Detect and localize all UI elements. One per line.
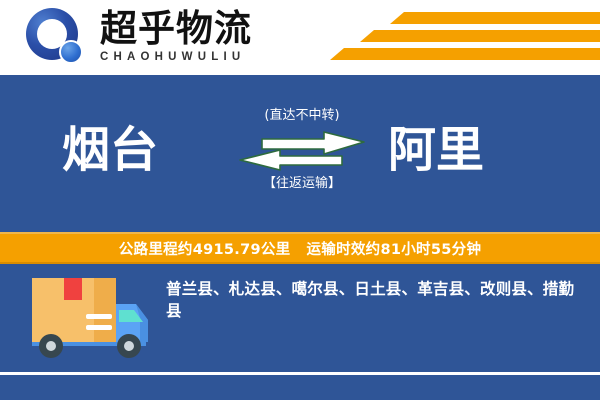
destination-city: 阿里 <box>388 119 484 181</box>
chaohu-q-logo-icon <box>26 8 90 68</box>
route-panel: 烟台 (直达不中转) 【往返运输】 阿里 <box>0 75 600 232</box>
coverage-areas-list: 普兰县、札达县、噶尔县、日土县、革吉县、改则县、措勤县 <box>166 278 584 322</box>
round-trip-note: 【往返运输】 <box>238 175 366 193</box>
coverage-section: 普兰县、札达县、噶尔县、日土县、革吉县、改则县、措勤县 <box>0 264 600 400</box>
stripe-3 <box>330 48 600 60</box>
direct-service-note: (直达不中转) <box>238 107 366 125</box>
route-info-bar: 公路里程约4915.79公里 运输时效约81小时55分钟 <box>0 232 600 264</box>
logo-dot <box>59 40 83 64</box>
ground-line <box>0 372 600 375</box>
stripe-2 <box>360 30 600 42</box>
brand-name-cn: 超乎物流 <box>100 8 252 50</box>
logistics-route-banner: 超乎物流 CHAOHUWULIU 烟台 (直达不中转) 【往返运输】 阿里 公路… <box>0 0 600 400</box>
brand: 超乎物流 CHAOHUWULIU <box>100 8 252 63</box>
brand-name-en: CHAOHUWULIU <box>100 51 252 63</box>
bidirectional-arrow-icon <box>238 131 366 171</box>
duration-text: 运输时效约81小时55分钟 <box>306 238 481 259</box>
delivery-truck-icon <box>24 274 154 366</box>
decorative-stripes <box>320 10 600 66</box>
distance-text: 公路里程约4915.79公里 <box>119 238 291 259</box>
origin-city: 烟台 <box>62 119 158 181</box>
header: 超乎物流 CHAOHUWULIU <box>0 0 600 75</box>
stripe-1 <box>390 12 600 24</box>
route-middle: (直达不中转) 【往返运输】 <box>238 107 366 193</box>
